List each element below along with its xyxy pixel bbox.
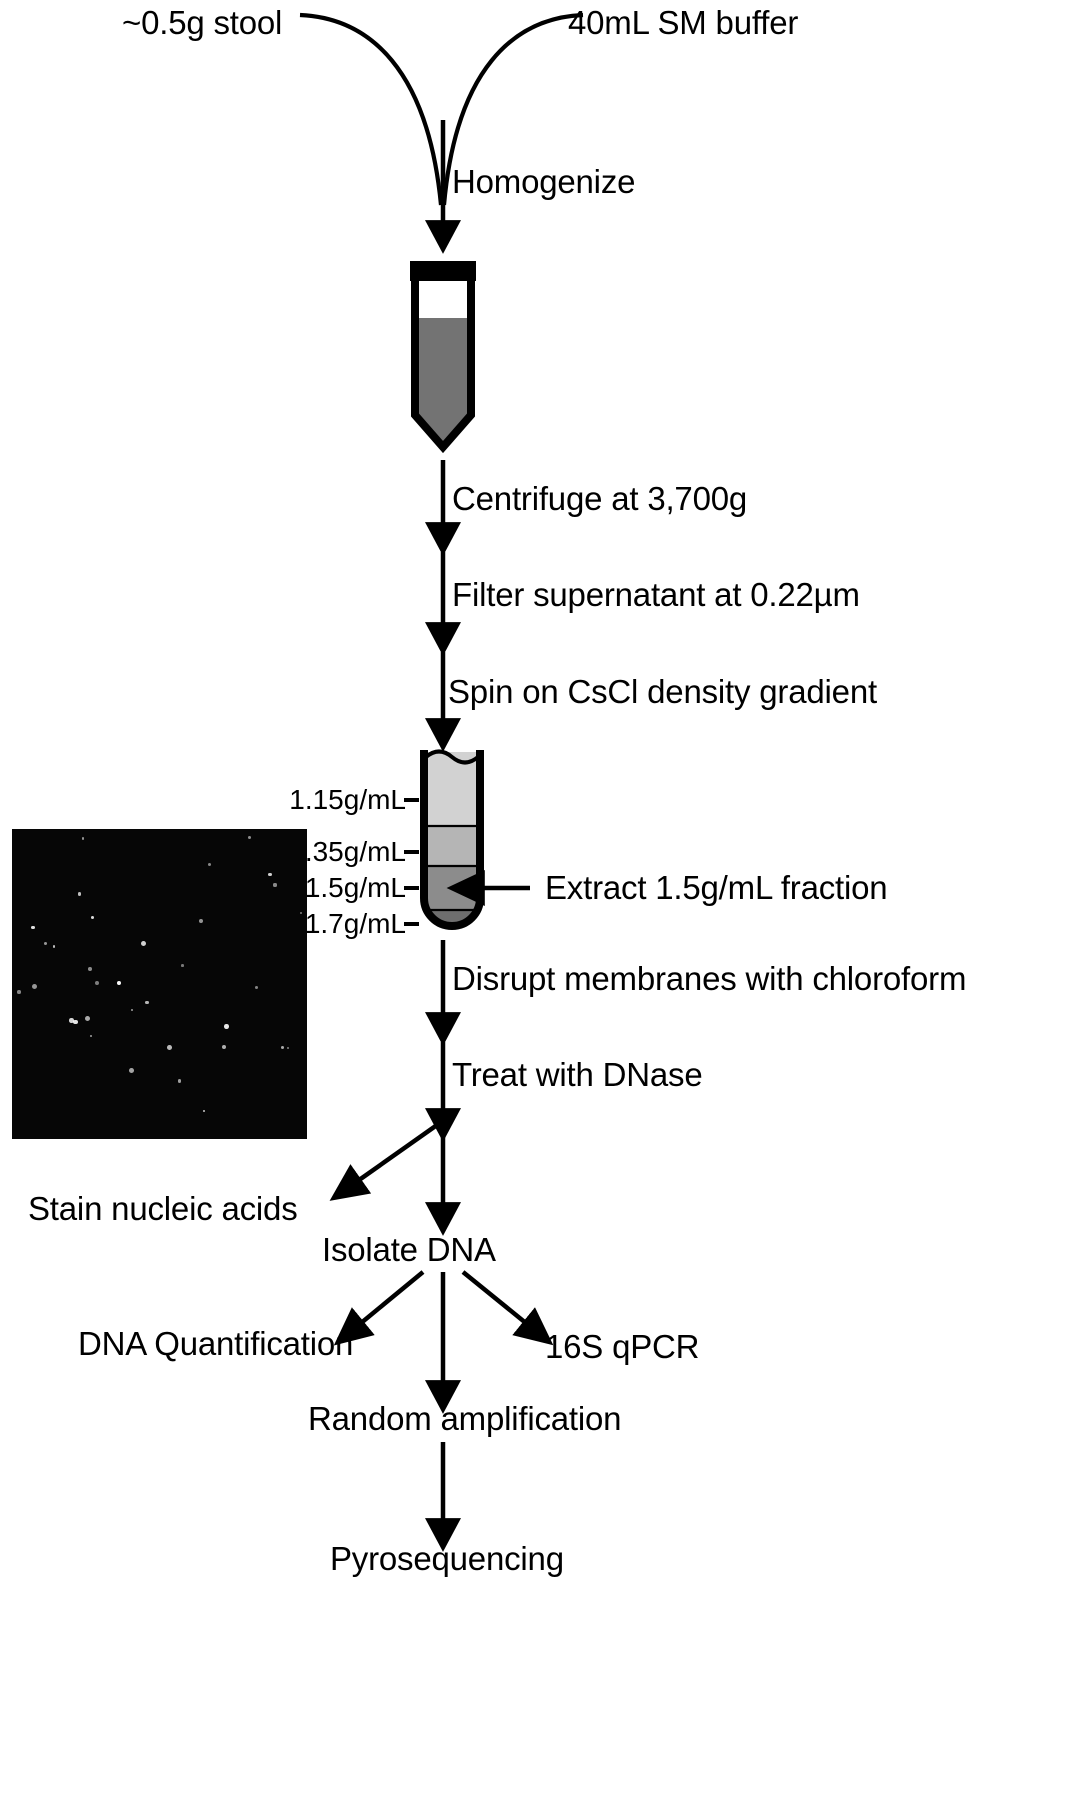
micrograph-particle [73,1020,77,1024]
micrograph-particle [208,863,211,866]
band-1-5 [420,866,482,910]
micrograph-particle [255,986,258,989]
homogenate-tube [410,261,476,447]
csci-gradient-tube [420,748,482,970]
step-label-pyrosequencing: Pyrosequencing [330,1542,564,1575]
micrograph-particle [268,873,272,877]
micrograph-particle [129,1068,134,1073]
density-label-1-15: 1.15g/mL [186,784,406,816]
micrograph-particle [90,1035,92,1037]
micrograph-particle [53,945,56,948]
input-label-stool: ~0.5g stool [122,6,282,39]
step-label-spin: Spin on CsCl density gradient [448,675,877,708]
micrograph-particle [78,892,81,895]
micrograph-particle [178,1079,182,1083]
micrograph-particle [203,1110,205,1112]
homogenate-tube-cap [410,261,476,281]
quantification-branch-arrow [355,1272,423,1328]
micrograph-particle [82,837,85,840]
micrograph-particle [32,984,37,989]
fluorescence-micrograph [12,829,307,1139]
step-label-isolate: Isolate DNA [322,1233,496,1266]
micrograph-particle [300,912,302,914]
micrograph-particle [222,1045,226,1049]
micrograph-particle [95,981,99,985]
step-label-dnase: Treat with DNase [452,1058,703,1091]
step-label-homogenize: Homogenize [452,165,635,198]
micrograph-particle [248,836,251,839]
micrograph-particle [44,942,47,945]
input-label-buffer: 40mL SM buffer [568,6,798,39]
micrograph-particle [287,1047,289,1049]
step-label-centrifuge: Centrifuge at 3,700g [452,482,747,515]
stool-input-path [300,15,441,205]
micrograph-particle [273,883,276,886]
micrograph-particle [281,1046,284,1049]
step-label-extract: Extract 1.5g/mL fraction [545,871,887,904]
workflow-diagram: ~0.5g stool 40mL SM buffer Homogenize Ce… [0,0,1085,1800]
micrograph-particle [88,967,92,971]
micrograph-particle [85,1016,90,1021]
step-label-stain: Stain nucleic acids [28,1192,298,1225]
micrograph-particle [181,964,184,967]
micrograph-particle [199,919,203,923]
step-label-quantification: DNA Quantification [78,1327,353,1360]
micrograph-particle [131,1009,133,1011]
micrograph-particle [117,981,121,985]
step-label-chloroform: Disrupt membranes with chloroform [452,962,966,995]
homogenate-tube-headspace [419,278,467,318]
micrograph-particle [31,926,34,929]
micrograph-particle [17,990,21,994]
stain-branch-arrow [352,1125,437,1185]
micrograph-particle [145,1001,148,1004]
micrograph-particle [91,916,95,920]
step-label-filter: Filter supernatant at 0.22µm [452,578,860,611]
step-label-qpcr: 16S qPCR [545,1330,699,1363]
micrograph-particle [224,1024,229,1029]
micrograph-particle [167,1045,172,1050]
micrograph-particle [141,941,146,946]
band-1-35 [420,826,482,866]
step-label-amplification: Random amplification [308,1402,621,1435]
qpcr-branch-arrow [463,1272,532,1328]
density-tick-leaders [404,800,419,924]
